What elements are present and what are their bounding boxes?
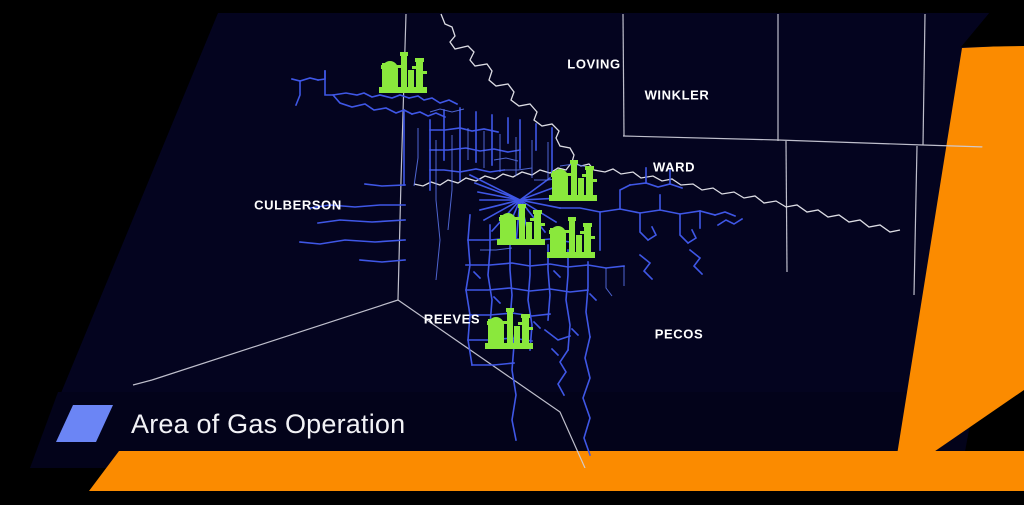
county-label-reeves: REEVES — [424, 311, 480, 326]
county-label-loving: LOVING — [567, 56, 620, 71]
legend-label: Area of Gas Operation — [131, 409, 405, 439]
county-label-ward: WARD — [653, 159, 695, 174]
map-canvas: LOVINGWINKLERWARDCULBERSONREEVESPECOS Ar… — [0, 0, 1024, 505]
county-label-pecos: PECOS — [655, 326, 704, 341]
accent-band-bottom — [89, 451, 1024, 491]
map-figure: LOVINGWINKLERWARDCULBERSONREEVESPECOS Ar… — [0, 0, 1024, 505]
county-label-culberson: CULBERSON — [254, 197, 342, 212]
county-label-winkler: WINKLER — [645, 87, 710, 102]
